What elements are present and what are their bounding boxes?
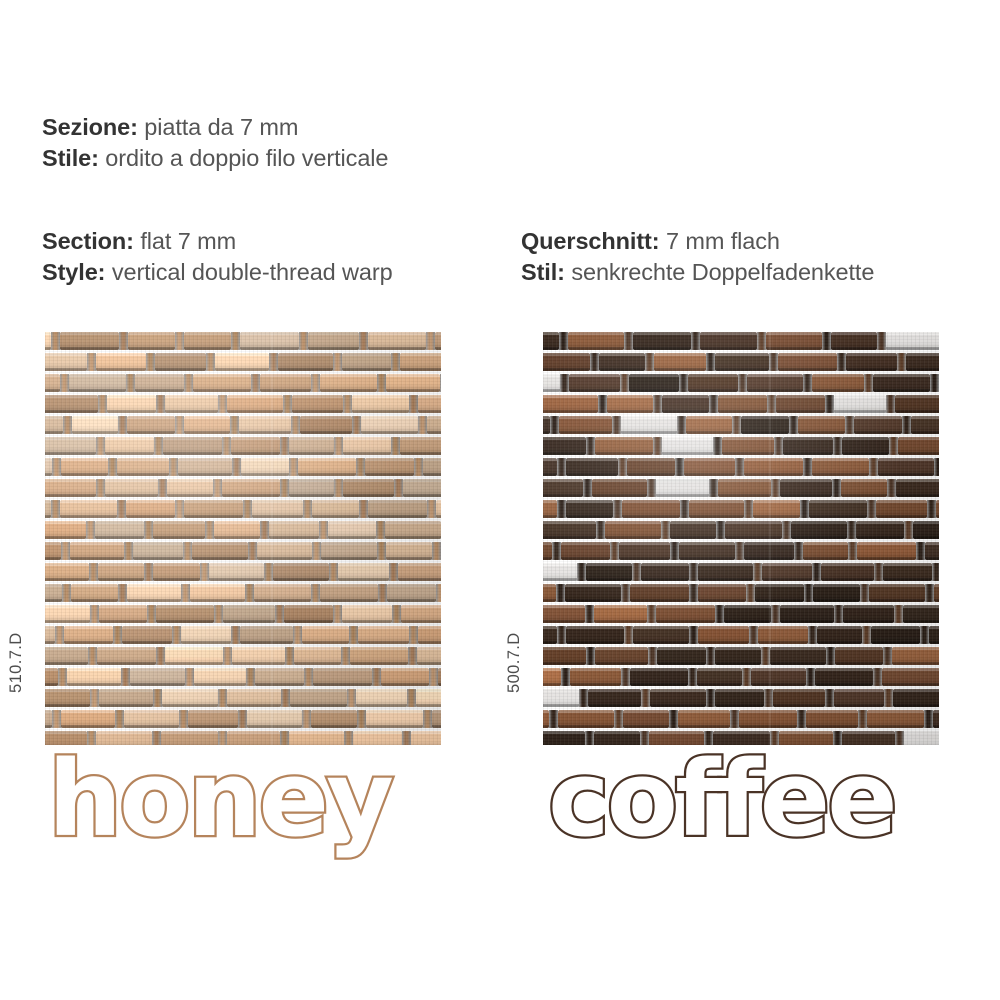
weave-warp-gap [549, 710, 558, 728]
weave-warp-gap [394, 479, 403, 497]
weave-row [543, 605, 939, 623]
weave-warp-gap [661, 521, 670, 539]
weave-warp-gap [916, 542, 925, 560]
weave-strand [770, 647, 826, 665]
weave-warp-gap [113, 626, 122, 644]
weave-warp-gap [826, 647, 835, 665]
weave-strand [569, 374, 620, 392]
weave-strand [105, 479, 158, 497]
weave-strand [841, 479, 887, 497]
weave-warp-gap [742, 668, 751, 686]
weave-warp-gap [285, 647, 294, 665]
weave-strand [193, 374, 251, 392]
weave-strand [45, 521, 86, 539]
weave-strand [570, 668, 621, 686]
spec-label-style: Style: [42, 259, 105, 285]
weave-warp-gap [205, 521, 214, 539]
weave-warp-gap [706, 647, 715, 665]
weave-strand [215, 353, 269, 371]
weave-strand [366, 710, 423, 728]
weave-warp-gap [409, 395, 418, 413]
weave-warp-gap [590, 353, 599, 371]
weave-warp-gap [764, 689, 773, 707]
weave-strand [45, 479, 96, 497]
weave-warp-gap [147, 605, 156, 623]
weave-strand [559, 416, 612, 434]
weave-strand [543, 479, 583, 497]
weave-row [543, 668, 939, 686]
weave-warp-gap [794, 542, 803, 560]
weave-row [543, 710, 939, 728]
weave-texture-honey [45, 332, 441, 745]
weave-warp-gap [108, 458, 117, 476]
weave-strand [871, 626, 920, 644]
weave-warp-gap [183, 542, 192, 560]
weave-strand [239, 416, 291, 434]
weave-row [543, 500, 939, 518]
spec-value-sezione: piatta da 7 mm [138, 114, 298, 140]
weave-strand [821, 563, 874, 581]
weave-strand [896, 479, 940, 497]
weave-warp-gap [341, 647, 350, 665]
weave-strand [427, 416, 441, 434]
weave-strand [45, 647, 88, 665]
weave-strand [806, 710, 858, 728]
weave-row [543, 542, 939, 560]
weave-warp-gap [156, 395, 165, 413]
weave-strand [289, 437, 334, 455]
weave-strand [831, 332, 877, 350]
weave-warp-gap [789, 416, 798, 434]
weave-strand [128, 332, 175, 350]
weave-warp-gap [359, 332, 368, 350]
weave-strand [715, 353, 769, 371]
weave-warp-gap [653, 395, 662, 413]
weave-warp-gap [648, 647, 657, 665]
weave-strand [657, 647, 706, 665]
weave-strand [401, 605, 442, 623]
weave-strand [45, 605, 90, 623]
weave-strand [700, 332, 757, 350]
weave-warp-gap [561, 668, 570, 686]
weave-warp-gap [716, 521, 725, 539]
weave-warp-gap [557, 626, 566, 644]
weave-strand [278, 353, 333, 371]
weave-strand [568, 332, 624, 350]
weave-warp-gap [293, 626, 302, 644]
weave-strand [435, 332, 441, 350]
weave-strand [543, 542, 552, 560]
weave-strand [69, 374, 126, 392]
weave-strand [358, 626, 409, 644]
weave-strand [903, 605, 940, 623]
weave-strand [227, 689, 281, 707]
weave-strand [260, 374, 311, 392]
spec-line-section: Section: flat 7 mm [42, 226, 393, 257]
weave-strand [227, 395, 283, 413]
weave-warp-gap [90, 689, 99, 707]
weave-warp-gap [689, 563, 698, 581]
weave-strand [61, 710, 115, 728]
weave-row [543, 689, 939, 707]
weave-warp-gap [269, 353, 278, 371]
weave-warp-gap [887, 479, 896, 497]
weave-strand [867, 710, 924, 728]
colour-name-honey: honey [48, 747, 391, 851]
weave-strand [834, 395, 886, 413]
weave-warp-gap [172, 626, 181, 644]
weave-strand [350, 647, 408, 665]
weave-warp-gap [347, 689, 356, 707]
weave-strand [352, 395, 409, 413]
weave-strand [798, 416, 845, 434]
spec-label-sezione: Sezione: [42, 114, 138, 140]
weave-strand [857, 542, 916, 560]
weave-strand [543, 395, 598, 413]
weave-warp-gap [62, 584, 71, 602]
weave-strand [766, 332, 822, 350]
weave-row [45, 563, 441, 581]
weave-strand [190, 584, 245, 602]
weave-strand [934, 584, 939, 602]
weave-warp-gap [897, 353, 906, 371]
weave-strand [622, 500, 680, 518]
weave-strand [633, 332, 691, 350]
weave-warp-gap [429, 668, 438, 686]
weave-warp-gap [641, 689, 650, 707]
weave-row [45, 584, 441, 602]
weave-warp-gap [610, 542, 619, 560]
weave-strand [436, 500, 441, 518]
weave-strand [543, 416, 550, 434]
weave-warp-gap [427, 500, 436, 518]
weave-strand [320, 374, 377, 392]
weave-strand [843, 605, 894, 623]
weave-strand [698, 563, 753, 581]
weave-warp-gap [688, 668, 697, 686]
spec-line-stil: Stil: senkrechte Doppelfadenkette [521, 257, 874, 288]
weave-warp-gap [280, 479, 289, 497]
weave-strand [724, 605, 771, 623]
weave-strand [254, 584, 311, 602]
weave-strand [543, 374, 560, 392]
weave-warp-gap [243, 500, 252, 518]
weave-strand [105, 437, 154, 455]
spec-label-section: Section: [42, 228, 134, 254]
weave-strand [386, 542, 432, 560]
weave-strand [744, 458, 803, 476]
weave-warp-gap [744, 500, 753, 518]
weave-strand [400, 353, 442, 371]
weave-strand [95, 521, 144, 539]
weave-row [45, 605, 441, 623]
weave-warp-gap [51, 332, 60, 350]
weave-strand [45, 416, 63, 434]
weave-strand [835, 647, 883, 665]
weave-row [543, 563, 939, 581]
weave-warp-gap [803, 458, 812, 476]
weave-strand [60, 332, 119, 350]
weave-strand [791, 521, 847, 539]
weave-warp-gap [333, 353, 342, 371]
weave-strand [543, 353, 590, 371]
weave-warp-gap [175, 500, 184, 518]
weave-warp-gap [902, 416, 911, 434]
weave-warp-gap [289, 458, 298, 476]
weave-strand [127, 584, 181, 602]
weave-strand [240, 626, 293, 644]
weave-warp-gap [559, 332, 568, 350]
weave-warp-gap [596, 521, 605, 539]
spec-block-italian: Sezione: piatta da 7 mm Stile: ordito a … [42, 112, 388, 173]
weave-warp-gap [312, 542, 321, 560]
weave-warp-gap [624, 626, 633, 644]
weave-warp-gap [169, 458, 178, 476]
weave-warp-gap [88, 647, 97, 665]
weave-warp-gap [613, 500, 622, 518]
weave-strand [252, 500, 303, 518]
weave-warp-gap [738, 374, 747, 392]
weave-strand [842, 437, 889, 455]
weave-row [543, 353, 939, 371]
weave-row [543, 647, 939, 665]
weave-strand [679, 542, 735, 560]
weave-warp-gap [52, 458, 61, 476]
weave-strand [809, 500, 867, 518]
weave-strand [753, 500, 800, 518]
weave-strand [630, 668, 688, 686]
weave-warp-gap [771, 605, 780, 623]
weave-strand [630, 584, 689, 602]
weave-strand [403, 479, 442, 497]
weave-warp-gap [735, 542, 744, 560]
weave-strand [592, 479, 647, 497]
weave-strand [342, 353, 391, 371]
weave-row [45, 647, 441, 665]
weave-warp-gap [377, 542, 386, 560]
spec-value-stil: senkrechte Doppelfadenkette [565, 259, 874, 285]
weave-warp-gap [749, 626, 758, 644]
weave-strand [817, 626, 862, 644]
weave-strand [762, 563, 812, 581]
weave-strand [165, 647, 223, 665]
weave-strand [688, 374, 738, 392]
weave-strand [130, 668, 185, 686]
weave-warp-gap [206, 353, 215, 371]
weave-strand [936, 500, 939, 518]
weave-row [45, 668, 441, 686]
weave-strand [747, 374, 803, 392]
weave-warp-gap [281, 689, 290, 707]
weave-warp-gap [620, 374, 629, 392]
weave-strand [933, 710, 939, 728]
weave-strand [565, 584, 621, 602]
weave-strand [98, 563, 144, 581]
weave-warp-gap [550, 416, 559, 434]
weave-warp-gap [556, 584, 565, 602]
weave-row [45, 332, 441, 350]
spec-label-stile: Stile: [42, 145, 99, 171]
weave-warp-gap [585, 605, 594, 623]
weave-strand [231, 437, 280, 455]
weave-warp-gap [598, 395, 607, 413]
weave-strand [45, 542, 61, 560]
weave-strand [416, 689, 442, 707]
weave-warp-gap [804, 584, 813, 602]
weave-warp-gap [218, 689, 227, 707]
weave-strand [97, 647, 156, 665]
weave-strand [854, 416, 902, 434]
weave-warp-gap [280, 437, 289, 455]
weave-warp-gap [260, 521, 269, 539]
weave-row [543, 458, 939, 476]
weave-row [45, 458, 441, 476]
weave-strand [925, 542, 939, 560]
weave-warp-gap [124, 542, 133, 560]
weave-warp-gap [440, 374, 441, 392]
weave-warp-gap [670, 542, 679, 560]
weave-warp-gap [144, 563, 153, 581]
weave-warp-gap [391, 353, 400, 371]
weave-strand [240, 332, 299, 350]
weave-warp-gap [675, 458, 684, 476]
weave-strand [386, 374, 440, 392]
weave-strand [223, 605, 275, 623]
weave-warp-gap [156, 647, 165, 665]
weave-strand [184, 416, 230, 434]
weave-warp-gap [376, 521, 385, 539]
weave-strand [61, 458, 108, 476]
weave-strand [99, 689, 153, 707]
weave-strand [670, 521, 716, 539]
weave-strand [654, 353, 706, 371]
weave-warp-gap [291, 416, 300, 434]
weave-strand [133, 542, 183, 560]
weave-strand [929, 626, 939, 644]
weave-warp-gap [60, 374, 69, 392]
weave-strand [543, 668, 561, 686]
weave-strand [45, 395, 98, 413]
weave-warp-gap [372, 668, 381, 686]
weave-strand [273, 563, 329, 581]
weave-warp-gap [264, 563, 273, 581]
weave-strand [715, 689, 764, 707]
weave-row [45, 437, 441, 455]
weave-warp-gap [557, 458, 566, 476]
weave-strand [312, 500, 359, 518]
weave-warp-gap [757, 332, 766, 350]
weave-strand [214, 521, 260, 539]
weave-warp-gap [618, 458, 627, 476]
weave-warp-gap [825, 395, 834, 413]
weave-strand [232, 647, 285, 665]
weave-warp-gap [246, 668, 255, 686]
weave-warp-gap [621, 668, 630, 686]
weave-warp-gap [761, 647, 770, 665]
weave-warp-gap [753, 563, 762, 581]
swatch-honey[interactable] [45, 332, 441, 745]
weave-strand [45, 668, 58, 686]
weave-warp-gap [153, 689, 162, 707]
weave-strand [343, 479, 394, 497]
weave-warp-gap [181, 584, 190, 602]
spec-line-stile: Stile: ordito a doppio filo verticale [42, 143, 388, 174]
weave-strand [156, 605, 214, 623]
weave-row [543, 521, 939, 539]
weave-strand [167, 479, 213, 497]
weave-warp-gap [691, 332, 700, 350]
weave-strand [163, 437, 222, 455]
weave-strand [432, 710, 441, 728]
weave-strand [813, 584, 860, 602]
weave-row [543, 416, 939, 434]
weave-warp-gap [154, 437, 163, 455]
weave-warp-gap [677, 416, 686, 434]
weave-strand [594, 605, 647, 623]
weave-strand [543, 437, 586, 455]
weave-warp-gap [334, 437, 343, 455]
weave-strand [566, 626, 624, 644]
weave-warp-gap [932, 563, 940, 581]
weave-strand [368, 500, 427, 518]
spec-label-stil: Stil: [521, 259, 565, 285]
weave-strand [678, 710, 730, 728]
weave-strand [417, 647, 442, 665]
weave-strand [365, 458, 414, 476]
weave-strand [904, 731, 940, 745]
spec-line-querschnitt: Querschnitt: 7 mm flach [521, 226, 874, 257]
weave-warp-gap [774, 437, 783, 455]
weave-warp-gap [689, 584, 698, 602]
swatch-coffee[interactable] [543, 332, 939, 745]
weave-warp-gap [862, 626, 871, 644]
weave-strand [697, 668, 742, 686]
weave-warp-gap [299, 332, 308, 350]
spec-label-querschnitt: Querschnitt: [521, 228, 660, 254]
spec-block-english: Section: flat 7 mm Style: vertical doubl… [42, 226, 393, 287]
weave-strand [629, 374, 679, 392]
weave-warp-gap [822, 332, 831, 350]
weave-warp-gap [52, 710, 61, 728]
weave-strand [298, 458, 356, 476]
weave-warp-gap [319, 521, 328, 539]
weave-strand [290, 689, 347, 707]
weave-strand [803, 542, 848, 560]
weave-strand [300, 416, 352, 434]
weave-warp-gap [51, 500, 60, 518]
weave-warp-gap [304, 668, 313, 686]
weave-warp-gap [409, 626, 418, 644]
weave-strand [621, 416, 677, 434]
weave-warp-gap [329, 563, 338, 581]
weave-warp-gap [87, 353, 96, 371]
weave-strand [126, 500, 175, 518]
weave-warp-gap [356, 458, 365, 476]
weave-warp-gap [889, 437, 898, 455]
weave-strand [898, 437, 940, 455]
weave-strand [698, 584, 746, 602]
weave-warp-gap [577, 563, 586, 581]
weave-strand [209, 563, 264, 581]
weave-strand [725, 521, 782, 539]
weave-strand [595, 647, 648, 665]
weave-strand [741, 416, 789, 434]
weave-warp-gap [126, 374, 135, 392]
weave-row [45, 353, 441, 371]
weave-strand [71, 584, 118, 602]
weave-texture-coffee [543, 332, 939, 745]
weave-strand [153, 521, 205, 539]
